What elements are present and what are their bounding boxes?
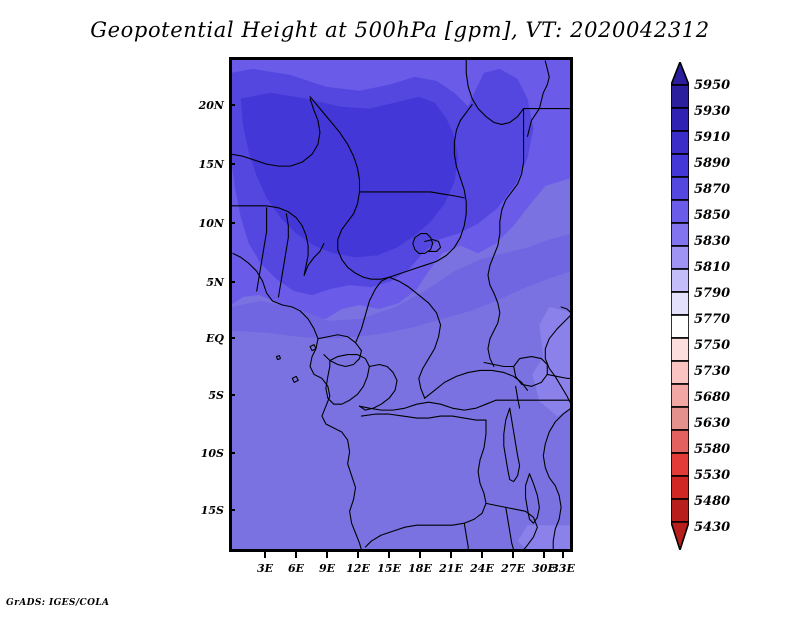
lat-label-5s: 5S: [196, 389, 224, 402]
lat-tick-20n: [229, 104, 235, 106]
lon-tick-9e: [326, 552, 328, 558]
lat-tick-5s: [229, 394, 235, 396]
lon-label-27e: 27E: [498, 562, 528, 575]
lon-label-6e: 6E: [283, 562, 309, 575]
lat-tick-15s: [229, 509, 235, 511]
lon-tick-18e: [419, 552, 421, 558]
colorbar-label-5750: 5750: [694, 339, 730, 352]
colorbar-label-5430: 5430: [694, 521, 730, 534]
colorbar-label-5680: 5680: [694, 391, 730, 404]
lat-label-15n: 15N: [196, 158, 224, 171]
colorbar-label-5850: 5850: [694, 209, 730, 222]
geopotential-height-field: [231, 59, 571, 550]
colorbar-label-5930: 5930: [694, 105, 730, 118]
lat-label-20n: 20N: [196, 99, 224, 112]
lat-label-10n: 10N: [196, 217, 224, 230]
lon-label-33e: 33E: [548, 562, 578, 575]
colorbar-label-5630: 5630: [694, 417, 730, 430]
colorbar-label-5580: 5580: [694, 443, 730, 456]
lon-tick-21e: [450, 552, 452, 558]
colorbar-label-5770: 5770: [694, 313, 730, 326]
lon-tick-27e: [512, 552, 514, 558]
colorbar-label-5480: 5480: [694, 495, 730, 508]
lon-tick-24e: [481, 552, 483, 558]
lat-label-eq: EQ: [196, 332, 224, 345]
lon-label-12e: 12E: [343, 562, 373, 575]
map-panel: [229, 57, 573, 552]
lon-tick-12e: [357, 552, 359, 558]
colorbar-label-5790: 5790: [694, 287, 730, 300]
lon-label-24e: 24E: [467, 562, 497, 575]
lon-label-3e: 3E: [252, 562, 278, 575]
lat-label-15s: 15S: [196, 504, 224, 517]
lon-label-18e: 18E: [405, 562, 435, 575]
colorbar-label-5830: 5830: [694, 235, 730, 248]
colorbar-label-5810: 5810: [694, 261, 730, 274]
attribution-footer: GrADS: IGES/COLA: [6, 598, 109, 608]
lon-tick-15e: [388, 552, 390, 558]
lon-label-9e: 9E: [314, 562, 340, 575]
lat-label-10s: 10S: [196, 447, 224, 460]
lon-label-21e: 21E: [436, 562, 466, 575]
colorbar-label-5950: 5950: [694, 79, 730, 92]
colorbar: [671, 62, 689, 550]
lon-label-15e: 15E: [374, 562, 404, 575]
colorbar-label-5910: 5910: [694, 131, 730, 144]
colorbar-label-5890: 5890: [694, 157, 730, 170]
colorbar-label-5730: 5730: [694, 365, 730, 378]
lon-tick-33e: [562, 552, 564, 558]
lat-label-5n: 5N: [196, 276, 224, 289]
page-title: Geopotential Height at 500hPa [gpm], VT:…: [0, 18, 800, 42]
lat-tick-10n: [229, 222, 235, 224]
lon-tick-30e: [543, 552, 545, 558]
lat-tick-10s: [229, 452, 235, 454]
lat-tick-eq: [229, 337, 235, 339]
colorbar-label-5530: 5530: [694, 469, 730, 482]
lon-tick-3e: [264, 552, 266, 558]
grads-plot-window: Geopotential Height at 500hPa [gpm], VT:…: [0, 0, 800, 618]
lat-tick-15n: [229, 163, 235, 165]
colorbar-label-5870: 5870: [694, 183, 730, 196]
lat-tick-5n: [229, 281, 235, 283]
lon-tick-6e: [295, 552, 297, 558]
